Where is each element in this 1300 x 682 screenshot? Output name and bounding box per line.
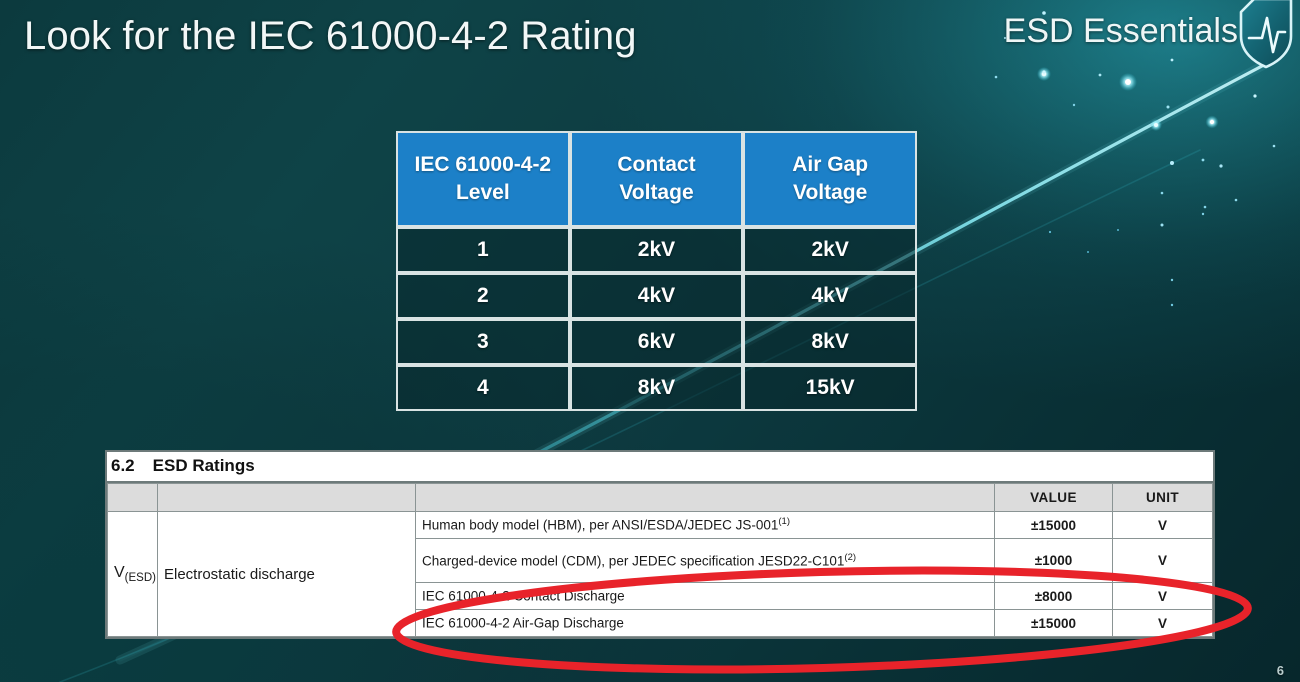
section-title: ESD Ratings <box>153 456 255 475</box>
datasheet-section-heading: 6.2ESD Ratings <box>107 452 1213 483</box>
esd-ratings-table: VALUE UNIT V(ESD) Electrostatic discharg… <box>107 483 1213 637</box>
cell-level: 3 <box>396 319 570 365</box>
cell-airgap: 2kV <box>743 227 917 273</box>
table-row: 3 6kV 8kV <box>396 319 917 365</box>
column-header-airgap: Air Gap Voltage <box>743 131 917 227</box>
column-header-description <box>416 484 995 512</box>
cell-contact: 8kV <box>570 365 744 411</box>
table-header-row: VALUE UNIT <box>108 484 1213 512</box>
table-header-row: IEC 61000-4-2 Level Contact Voltage Air … <box>396 131 917 227</box>
cell-description: Charged-device model (CDM), per JEDEC sp… <box>416 539 995 583</box>
cell-level: 1 <box>396 227 570 273</box>
table-row: V(ESD) Electrostatic discharge Human bod… <box>108 512 1213 539</box>
datasheet-excerpt: 6.2ESD Ratings VALUE UNIT V(ESD) Electro… <box>105 450 1215 639</box>
column-header-airgap-line2: Voltage <box>745 179 915 207</box>
column-header-contact-line1: Contact <box>572 151 742 179</box>
cell-description: IEC 61000-4-2 Air-Gap Discharge <box>416 610 995 637</box>
column-header-unit: UNIT <box>1113 484 1213 512</box>
cell-value: ±1000 <box>995 539 1113 583</box>
cell-value: ±15000 <box>995 610 1113 637</box>
column-header-level: IEC 61000-4-2 Level <box>396 131 570 227</box>
description-text: IEC 61000-4-2 Air-Gap Discharge <box>422 616 624 631</box>
cell-unit: V <box>1113 610 1213 637</box>
section-number: 6.2 <box>111 456 135 475</box>
table-row: 2 4kV 4kV <box>396 273 917 319</box>
column-header-contact-line2: Voltage <box>572 179 742 207</box>
footnote-marker: (2) <box>844 552 856 563</box>
description-text: IEC 61000-4-2 Contact Discharge <box>422 589 625 604</box>
cell-airgap: 4kV <box>743 273 917 319</box>
cell-description: Human body model (HBM), per ANSI/ESDA/JE… <box>416 512 995 539</box>
column-header-symbol <box>108 484 158 512</box>
symbol-subscript: (ESD) <box>125 572 156 584</box>
cell-description: IEC 61000-4-2 Contact Discharge <box>416 583 995 610</box>
description-text: Charged-device model (CDM), per JEDEC sp… <box>422 553 844 568</box>
column-header-parameter <box>158 484 416 512</box>
column-header-value: VALUE <box>995 484 1113 512</box>
page-title: Look for the IEC 61000-4-2 Rating <box>24 14 637 59</box>
cell-level: 2 <box>396 273 570 319</box>
cell-symbol: V(ESD) <box>108 512 158 637</box>
column-header-level-line1: IEC 61000-4-2 <box>398 151 568 179</box>
shield-pulse-icon <box>1236 0 1296 70</box>
cell-contact: 4kV <box>570 273 744 319</box>
table-row: 1 2kV 2kV <box>396 227 917 273</box>
cell-contact: 2kV <box>570 227 744 273</box>
cell-level: 4 <box>396 365 570 411</box>
cell-unit: V <box>1113 539 1213 583</box>
column-header-level-line2: Level <box>398 179 568 207</box>
cell-airgap: 15kV <box>743 365 917 411</box>
slide-canvas: Look for the IEC 61000-4-2 Rating ESD Es… <box>0 0 1300 682</box>
symbol-text: V <box>114 564 125 581</box>
cell-airgap: 8kV <box>743 319 917 365</box>
iec-level-table: IEC 61000-4-2 Level Contact Voltage Air … <box>396 131 917 411</box>
footnote-marker: (1) <box>778 516 790 527</box>
table-row: 4 8kV 15kV <box>396 365 917 411</box>
cell-unit: V <box>1113 583 1213 610</box>
column-header-contact: Contact Voltage <box>570 131 744 227</box>
description-text: Human body model (HBM), per ANSI/ESDA/JE… <box>422 518 778 533</box>
cell-unit: V <box>1113 512 1213 539</box>
cell-value: ±15000 <box>995 512 1113 539</box>
cell-contact: 6kV <box>570 319 744 365</box>
cell-value: ±8000 <box>995 583 1113 610</box>
page-number: 6 <box>1277 663 1284 678</box>
column-header-airgap-line1: Air Gap <box>745 151 915 179</box>
cell-parameter: Electrostatic discharge <box>158 512 416 637</box>
brand-label: ESD Essentials <box>1004 12 1238 51</box>
